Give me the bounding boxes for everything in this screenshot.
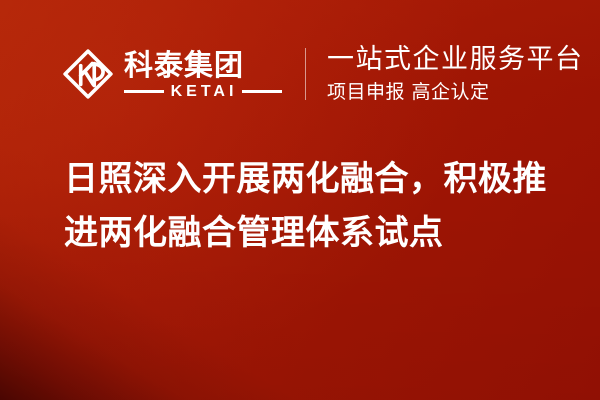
promo-banner: 科泰集团 KETAI 一站式企业服务平台 项目申报 高企认定 日照深入开展两化融… [0, 0, 600, 400]
tagline-block: 一站式企业服务平台 项目申报 高企认定 [327, 44, 584, 104]
brand-rule-right [242, 90, 282, 93]
banner-header: 科泰集团 KETAI 一站式企业服务平台 项目申报 高企认定 [0, 38, 600, 110]
brand-name-en: KETAI [164, 84, 243, 100]
ketai-diamond-kp-monogram-logo [62, 48, 114, 100]
tagline-primary: 一站式企业服务平台 [327, 44, 584, 76]
header-vertical-divider [305, 48, 306, 100]
headline-line-2: 进两化融合管理体系试点 [64, 206, 564, 260]
brand-lockup[interactable]: 科泰集团 KETAI [62, 48, 282, 100]
tagline-secondary: 项目申报 高企认定 [327, 80, 584, 104]
article-headline: 日照深入开展两化融合，积极推 进两化融合管理体系试点 [64, 152, 564, 260]
brand-name-cn: 科泰集团 [124, 49, 282, 81]
brand-rule-left [124, 90, 164, 93]
brand-name-en-row: KETAI [124, 84, 282, 100]
headline-line-1: 日照深入开展两化融合，积极推 [64, 152, 564, 206]
brand-text-block: 科泰集团 KETAI [124, 49, 282, 100]
